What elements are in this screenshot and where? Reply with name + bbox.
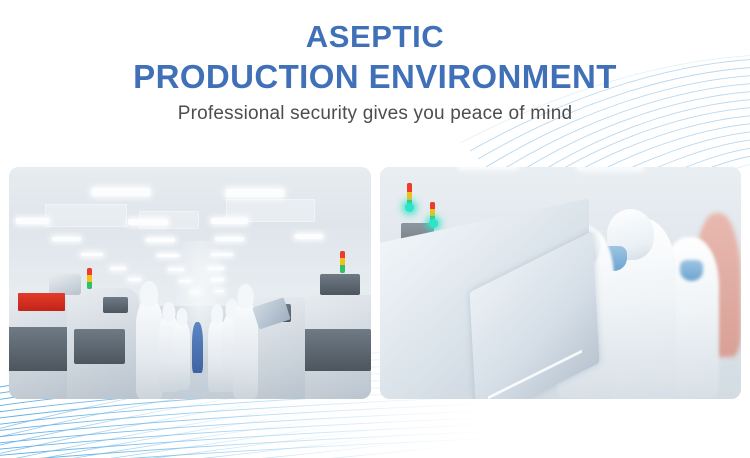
ceiling-light [215, 290, 224, 292]
tower-yellow-lamp [430, 209, 435, 216]
ceiling-light [459, 167, 517, 169]
page-title-line-1: ASEPTIC [0, 18, 750, 56]
ceiling-light [16, 218, 49, 224]
ceiling-light [81, 253, 103, 256]
face-mask [680, 260, 703, 281]
ceiling-light [226, 189, 284, 197]
red-safety-sign [18, 293, 65, 310]
ceiling-light [211, 218, 247, 224]
ceiling-light [110, 267, 126, 270]
page-subtitle: Professional security gives you peace of… [0, 100, 750, 128]
ceiling-light [215, 237, 244, 241]
ceiling-light [578, 167, 643, 170]
ceiling-light [295, 234, 324, 238]
ceiling-light [146, 238, 175, 242]
aseptic-production-banner: ASEPTIC PRODUCTION ENVIRONMENT Professio… [0, 0, 750, 458]
photo-cleanroom-corridor [9, 167, 371, 399]
ceiling-light [208, 267, 224, 270]
ceiling-light [128, 278, 140, 280]
tower-green-lamp [87, 282, 92, 289]
page-title-line-2: PRODUCTION ENVIRONMENT [0, 56, 750, 98]
ceiling-light [168, 268, 184, 271]
machine-inner-bay [74, 329, 125, 364]
machine-console-screen [103, 297, 128, 313]
tower-red-lamp [430, 202, 435, 209]
cleanroom-worker-blue [192, 322, 204, 373]
machine-control-panel [320, 274, 360, 295]
ceiling-light [211, 253, 233, 256]
tower-yellow-lamp [87, 275, 92, 282]
tower-yellow-lamp [407, 192, 412, 200]
andon-tower-light [340, 251, 345, 273]
status-indicator-glow [405, 203, 414, 212]
heading-block: ASEPTIC PRODUCTION ENVIRONMENT Professio… [0, 18, 750, 128]
tower-red-lamp [407, 183, 412, 191]
ceiling-panel [45, 204, 127, 227]
photo-row [9, 167, 741, 399]
ceiling-light [92, 188, 150, 196]
ceiling-light [128, 219, 168, 225]
tower-red-lamp [87, 268, 92, 275]
ceiling-light [211, 278, 223, 280]
tower-green-lamp [340, 265, 345, 272]
machine-inner-bay [302, 329, 371, 371]
ceiling-light [190, 291, 199, 293]
cleanroom-worker [173, 320, 190, 390]
photo-operators-console [380, 167, 742, 399]
andon-tower-light [87, 268, 92, 289]
ceiling-light [157, 254, 179, 257]
tower-yellow-lamp [340, 258, 345, 265]
machine-hood [49, 274, 82, 295]
status-indicator-glow [429, 219, 438, 228]
ceiling-light [52, 237, 81, 241]
ceiling-light [179, 280, 191, 282]
machine-inner-bay [9, 327, 74, 371]
tower-red-lamp [340, 251, 345, 258]
